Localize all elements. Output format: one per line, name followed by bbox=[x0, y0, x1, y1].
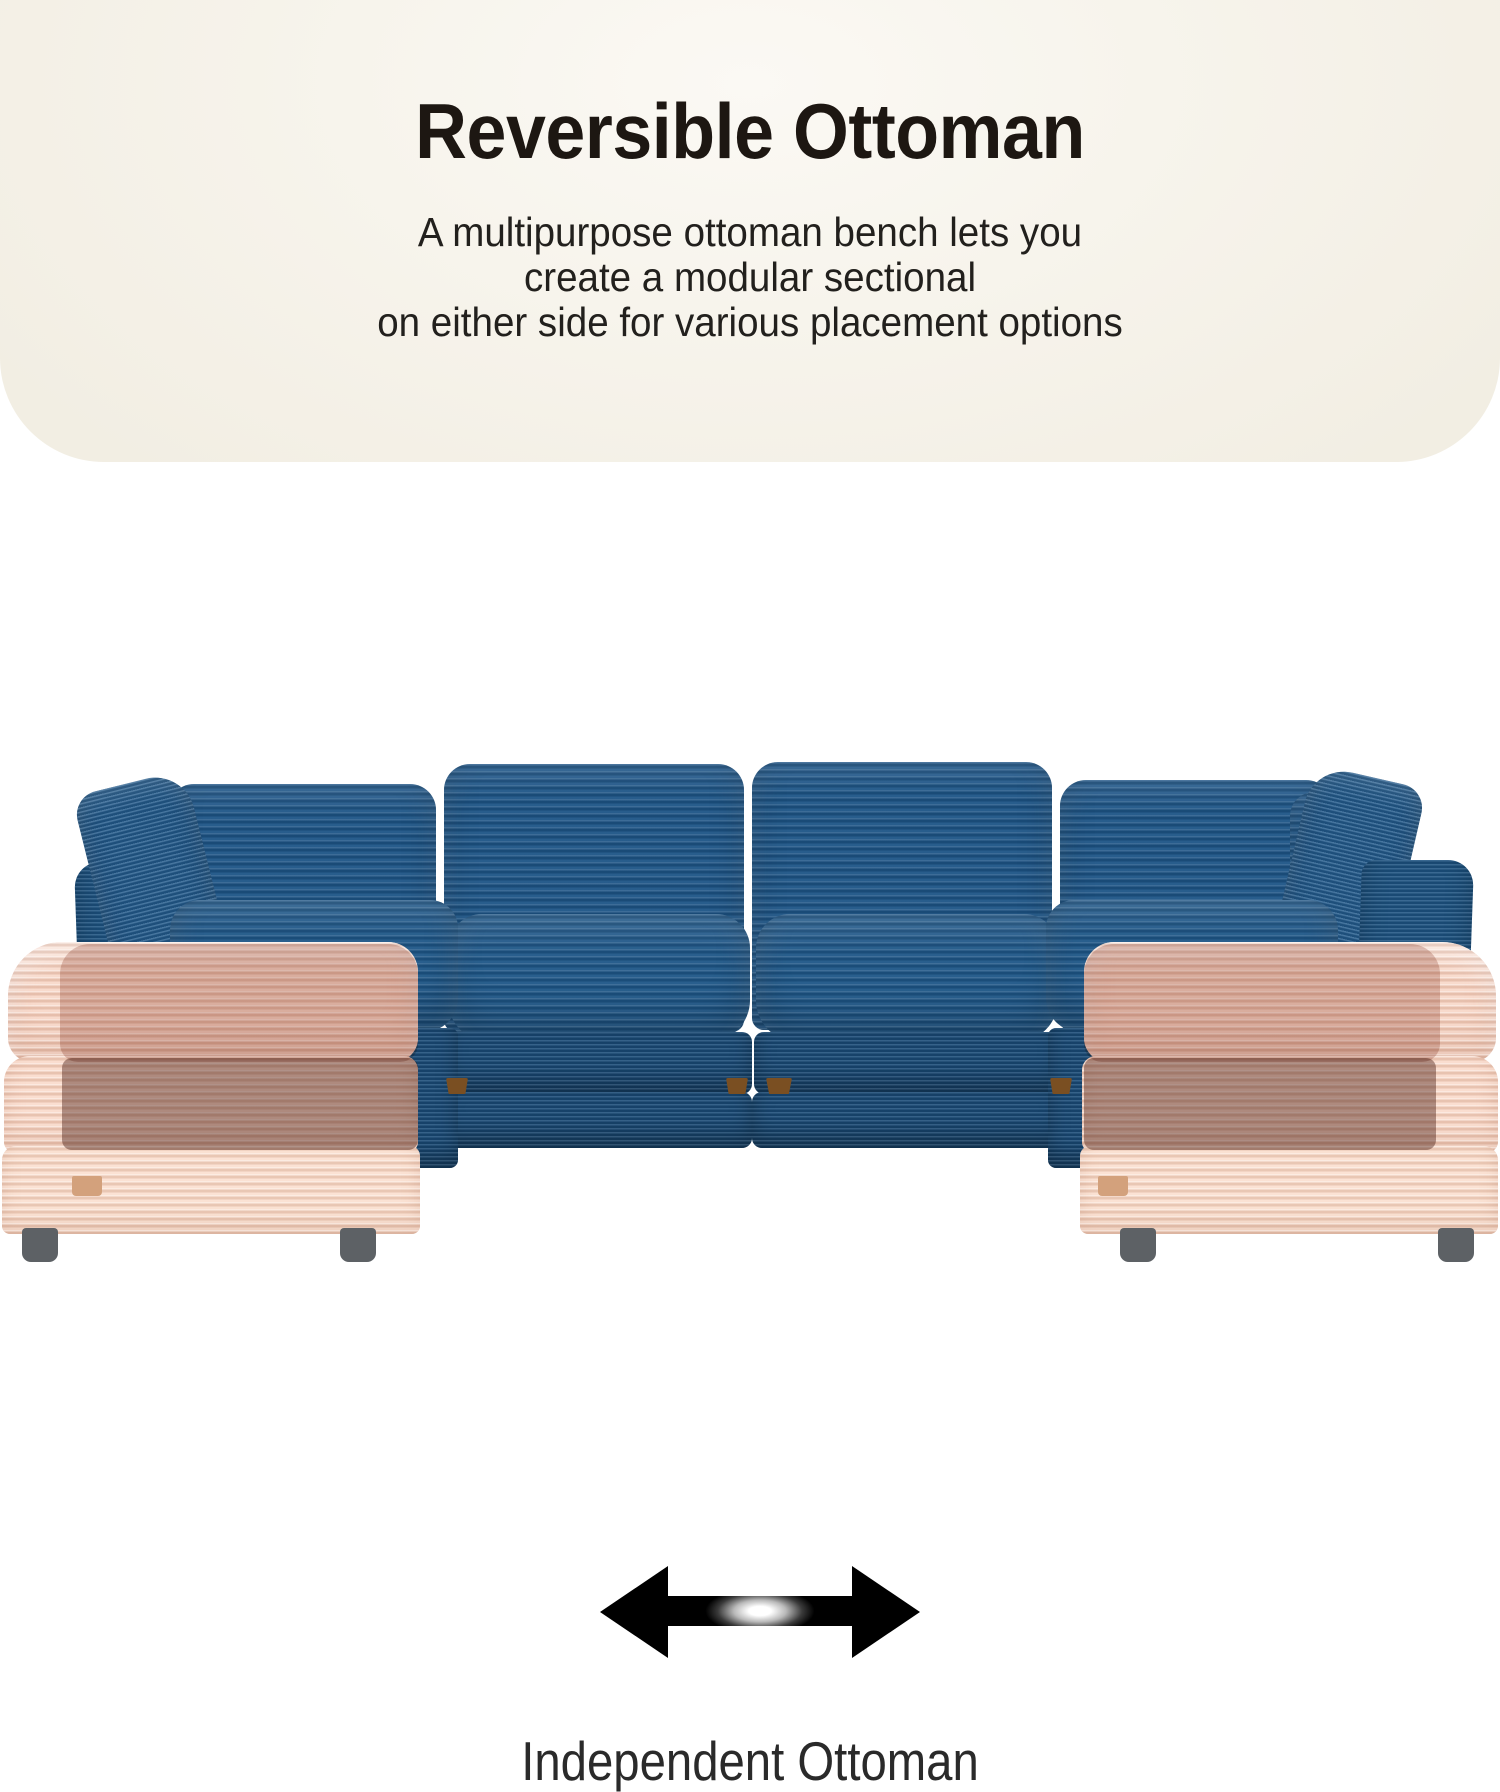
banner-subtitle: A multipurpose ottoman bench lets you cr… bbox=[45, 210, 1455, 345]
arrow-head-right-icon bbox=[852, 1566, 920, 1658]
left-ottoman-leg bbox=[72, 1176, 102, 1196]
centre-leg-right bbox=[766, 1078, 792, 1094]
seat-base-left bbox=[446, 1032, 752, 1094]
left-ottoman-overlap-upper bbox=[60, 944, 418, 1062]
left-ottoman-foot-front bbox=[22, 1228, 58, 1262]
right-ottoman-overlap-upper bbox=[1084, 944, 1440, 1062]
seat-cushion-left bbox=[448, 914, 750, 1042]
left-ottoman-foot-back bbox=[340, 1228, 376, 1262]
seat-cushion-right bbox=[756, 914, 1058, 1042]
seat-plinth-left bbox=[442, 1092, 752, 1148]
subtitle-line-1: A multipurpose ottoman bench lets you bbox=[45, 210, 1455, 255]
centre-leg-left bbox=[726, 1078, 748, 1094]
right-ottoman-foot-back bbox=[1120, 1228, 1156, 1262]
seat-plinth-right bbox=[752, 1092, 1062, 1148]
arrow-shaft bbox=[660, 1596, 860, 1626]
subtitle-line-2: create a modular sectional bbox=[45, 255, 1455, 300]
left-module-leg bbox=[446, 1078, 468, 1094]
double-headed-arrow bbox=[600, 1566, 920, 1658]
product-caption: Independent Ottoman bbox=[105, 1730, 1395, 1792]
page-title: Reversible Ottoman bbox=[60, 86, 1440, 176]
right-module-leg bbox=[1050, 1078, 1072, 1094]
seat-base-right bbox=[754, 1032, 1060, 1094]
left-ottoman-overlap-lower bbox=[62, 1058, 418, 1150]
arrow-head-left-icon bbox=[600, 1566, 668, 1658]
right-ottoman-leg bbox=[1098, 1176, 1128, 1196]
product-stage: Independent Ottoman bbox=[0, 462, 1500, 1500]
subtitle-line-3: on either side for various placement opt… bbox=[45, 300, 1455, 345]
right-ottoman-base bbox=[1080, 1146, 1498, 1234]
header-banner: Reversible Ottoman A multipurpose ottoma… bbox=[0, 0, 1500, 462]
right-ottoman-overlap-lower bbox=[1084, 1058, 1436, 1150]
modular-sectional-sofa bbox=[0, 462, 1500, 1500]
right-ottoman-foot-front bbox=[1438, 1228, 1474, 1262]
left-ottoman-base bbox=[2, 1146, 420, 1234]
